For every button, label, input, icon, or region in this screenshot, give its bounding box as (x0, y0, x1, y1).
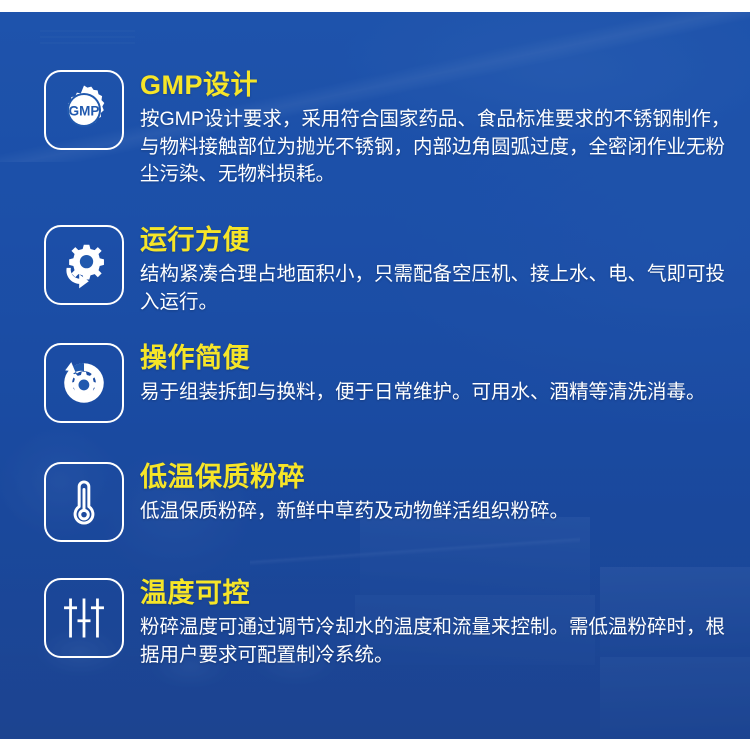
feature-title: GMP设计 (140, 70, 732, 102)
gmp-gear-icon: GMP (56, 82, 112, 138)
gear-refresh-icon-box (44, 343, 124, 423)
gear-refresh-icon (57, 356, 111, 410)
feature-title: 操作简便 (140, 343, 706, 375)
feature-description: 粉碎温度可通过调节冷却水的温度和流量来控制。需低温粉碎时，根据用户要求可配置制冷… (140, 614, 732, 669)
feature-title: 运行方便 (140, 225, 732, 257)
feature-description: 结构紧凑合理占地面积小，只需配备空压机、接上水、电、气即可投入运行。 (140, 261, 732, 316)
feature-description: 易于组装拆卸与换料，便于日常维护。可用水、酒精等清洗消毒。 (140, 379, 706, 407)
thermometer-icon (58, 476, 110, 528)
feature-title: 低温保质粉碎 (140, 462, 569, 494)
feature-row-simple-maintenance: 操作简便 易于组装拆卸与换料，便于日常维护。可用水、酒精等清洗消毒。 (44, 343, 706, 423)
feature-text-block: 低温保质粉碎 低温保质粉碎，新鲜中草药及动物鲜活组织粉碎。 (140, 462, 569, 526)
sliders-icon (58, 592, 110, 644)
gear-arrow-icon-box (44, 225, 124, 305)
sliders-icon-box (44, 578, 124, 658)
feature-description: 低温保质粉碎，新鲜中草药及动物鲜活组织粉碎。 (140, 498, 569, 526)
gmp-gear-icon-box: GMP (44, 70, 124, 150)
gear-arrow-icon (57, 238, 111, 292)
feature-row-low-temp-grinding: 低温保质粉碎 低温保质粉碎，新鲜中草药及动物鲜活组织粉碎。 (44, 462, 569, 542)
feature-text-block: 温度可控 粉碎温度可通过调节冷却水的温度和流量来控制。需低温粉碎时，根据用户要求… (140, 578, 732, 669)
feature-row-gmp: GMP GMP设计 按GMP设计要求，采用符合国家药品、食品标准要求的不锈钢制作… (44, 70, 732, 189)
feature-rows: GMP GMP设计 按GMP设计要求，采用符合国家药品、食品标准要求的不锈钢制作… (0, 12, 750, 739)
feature-list-page: GMP GMP设计 按GMP设计要求，采用符合国家药品、食品标准要求的不锈钢制作… (0, 0, 750, 751)
thermometer-icon-box (44, 462, 124, 542)
feature-text-block: 操作简便 易于组装拆卸与换料，便于日常维护。可用水、酒精等清洗消毒。 (140, 343, 706, 407)
feature-description: 按GMP设计要求，采用符合国家药品、食品标准要求的不锈钢制作，与物料接触部位为抛… (140, 106, 732, 189)
feature-title: 温度可控 (140, 578, 732, 610)
feature-row-easy-operation: 运行方便 结构紧凑合理占地面积小，只需配备空压机、接上水、电、气即可投入运行。 (44, 225, 732, 316)
svg-text:GMP: GMP (69, 104, 100, 119)
feature-text-block: 运行方便 结构紧凑合理占地面积小，只需配备空压机、接上水、电、气即可投入运行。 (140, 225, 732, 316)
feature-text-block: GMP设计 按GMP设计要求，采用符合国家药品、食品标准要求的不锈钢制作，与物料… (140, 70, 732, 189)
feature-row-temp-control: 温度可控 粉碎温度可通过调节冷却水的温度和流量来控制。需低温粉碎时，根据用户要求… (44, 578, 732, 669)
